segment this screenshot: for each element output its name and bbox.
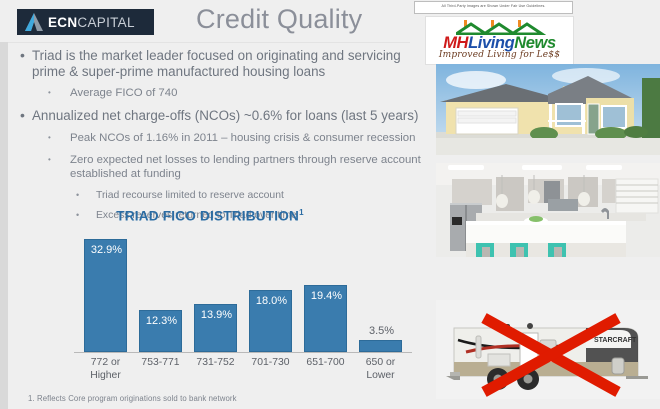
logo-capital-text: CAPITAL [77,15,134,30]
bullet-item: • Peak NCOs of 1.16% in 2011 – housing c… [48,131,426,145]
bullet-dot-icon: • [76,189,96,202]
ecn-triangle-mark-icon [24,13,44,31]
bullet-dot-icon: • [48,86,70,100]
bullet-dot-icon: • [20,48,32,63]
page-title: Credit Quality [196,4,362,35]
mhlivingnews-tagline: Improved Living for Le$$ [426,50,573,60]
rooftops-icon [456,20,546,35]
chart-bar-value-label: 13.9% [195,309,238,321]
chart-x-label: 753-771 [133,357,189,370]
chart-bar-value-label: 18.0% [250,295,293,307]
bullet-item: • Average FICO of 740 [48,86,426,100]
chart-bar-column: 12.3% [139,228,182,352]
chart-x-label: 650 orLower [353,357,409,382]
chart-title-text: TRIAD FICO DISTRIBUTION [116,209,299,224]
chart-bar-value-label: 19.4% [305,290,348,302]
chart-x-axis-line [74,352,412,353]
bullet-dot-icon: • [20,108,32,123]
chart-x-label: 772 orHigher [78,357,134,382]
left-edge-strip [0,0,8,409]
bullet-text: Annualized net charge-offs (NCOs) ~0.6% … [32,108,418,124]
chart-title-footnote-marker: 1 [299,208,304,217]
bullet-item: • Triad is the market leader focused on … [20,48,426,79]
modern-kitchen-interior-photo [436,163,660,257]
ecn-capital-logo: ECN CAPITAL [17,9,154,35]
chart-bar-value-label: 3.5% [360,325,403,337]
chart-bar-column: 13.9% [194,228,237,352]
chart-bar-value-label: 12.3% [140,315,183,327]
chart-bar: 3.5% [359,340,402,352]
chart-x-label: 701-730 [243,357,299,370]
chart-bar: 19.4% [304,285,347,352]
bullet-list: • Triad is the market leader focused on … [8,48,426,229]
chart-bar: 32.9% [84,239,127,352]
bullet-dot-icon: • [48,131,70,145]
header-divider [8,42,410,43]
fico-distribution-chart: 32.9%12.3%13.9%18.0%19.4%3.5% 772 orHigh… [30,228,422,378]
slide-footnote: 1. Reflects Core program originations so… [28,394,237,403]
chart-bar-column: 3.5% [359,228,402,352]
chart-bar-column: 18.0% [249,228,292,352]
logo-ecn-text: ECN [48,15,77,30]
chart-x-label: 651-700 [298,357,354,370]
fair-use-notice: All Third-Party Images are Shown Under F… [414,1,573,14]
chart-bar-column: 19.4% [304,228,347,352]
bullet-item: • Zero expected net losses to lending pa… [48,153,426,181]
bullet-item: • Annualized net charge-offs (NCOs) ~0.6… [20,108,426,124]
ecn-capital-wordmark: ECN CAPITAL [48,15,135,30]
slide-header: ECN CAPITAL Credit Quality [0,0,410,42]
mhlivingnews-logo: MHLivingNews Improved Living for Le$$ [425,16,574,65]
chart-title: TRIAD FICO DISTRIBUTION1 [0,208,420,224]
bullet-text: Triad is the market leader focused on or… [32,48,426,79]
chart-plot-area: 32.9%12.3%13.9%18.0%19.4%3.5% [78,228,408,352]
chart-bar-column: 32.9% [84,228,127,352]
manufactured-home-exterior-photo [436,64,660,155]
chart-bar: 12.3% [139,310,182,352]
bullet-item: • Triad recourse limited to reserve acco… [76,189,426,202]
bullet-text: Triad recourse limited to reserve accoun… [96,189,284,202]
bullet-dot-icon: • [48,153,70,167]
chart-bar-value-label: 32.9% [85,244,128,256]
bullet-text: Peak NCOs of 1.16% in 2011 – housing cri… [70,131,415,145]
chart-bar: 18.0% [249,290,292,352]
chart-bar: 13.9% [194,304,237,352]
slide-canvas: ECN CAPITAL Credit Quality All Third-Par… [0,0,660,409]
chart-x-axis-labels: 772 orHigher753-771731-752701-730651-700… [78,357,408,387]
chart-x-label: 731-752 [188,357,244,370]
bullet-text: Zero expected net losses to lending part… [70,153,426,181]
rv-travel-trailer-crossed-out-photo: STARCRAFT [436,300,660,399]
bullet-text: Average FICO of 740 [70,86,177,100]
svg-text:STARCRAFT: STARCRAFT [594,337,637,344]
